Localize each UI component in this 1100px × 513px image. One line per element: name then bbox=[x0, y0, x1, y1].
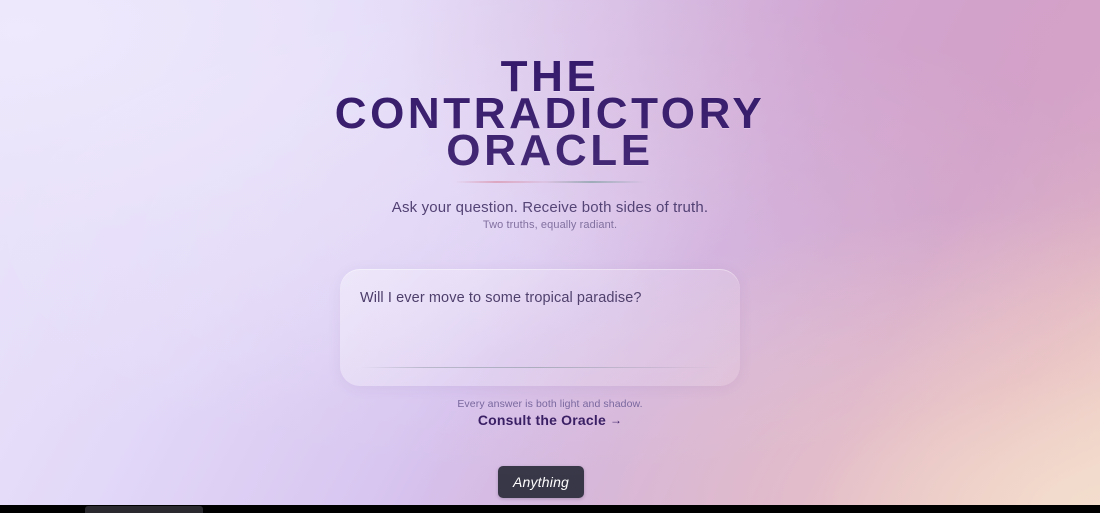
arrow-right-icon: → bbox=[610, 413, 622, 427]
os-taskbar bbox=[0, 505, 1100, 513]
page-title: THE CONTRADICTORY ORACLE bbox=[0, 58, 1100, 169]
os-taskbar-item[interactable] bbox=[85, 506, 203, 513]
consult-oracle-label: Consult the Oracle bbox=[478, 412, 606, 428]
app-root: THE CONTRADICTORY ORACLE Ask your questi… bbox=[0, 0, 1100, 513]
page-subtitle-secondary: Two truths, equally radiant. bbox=[0, 219, 1100, 231]
page-content: THE CONTRADICTORY ORACLE Ask your questi… bbox=[0, 0, 1100, 505]
page-title-line-3: ORACLE bbox=[0, 132, 1100, 169]
page-subtitle: Ask your question. Receive both sides of… bbox=[0, 199, 1100, 216]
gradient-background: THE CONTRADICTORY ORACLE Ask your questi… bbox=[0, 0, 1100, 505]
anything-button[interactable]: Anything bbox=[498, 466, 584, 498]
consult-oracle-button[interactable]: Consult the Oracle→ bbox=[0, 412, 1100, 428]
question-card[interactable] bbox=[340, 269, 740, 386]
question-input-underline bbox=[360, 367, 720, 368]
title-divider bbox=[455, 181, 645, 183]
question-input[interactable] bbox=[360, 288, 722, 368]
footer-note: Every answer is both light and shadow. bbox=[0, 398, 1100, 410]
